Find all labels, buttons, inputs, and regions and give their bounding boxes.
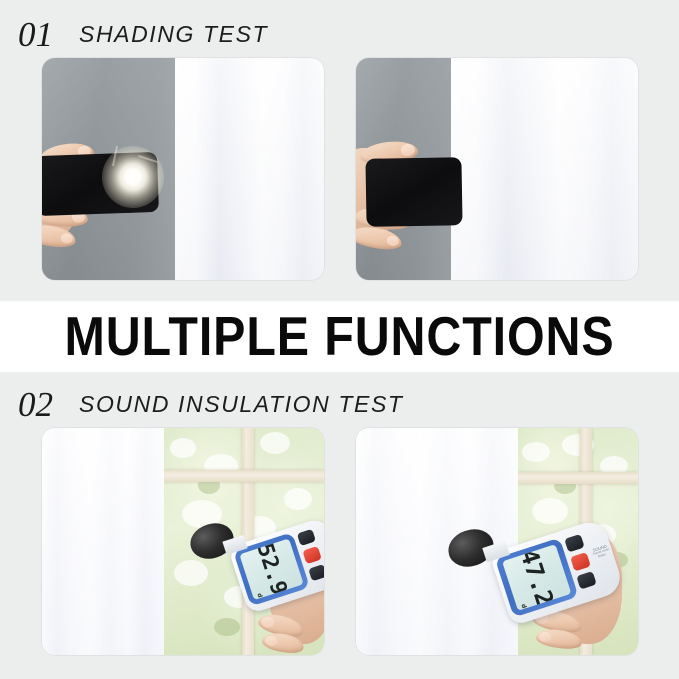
- meter-reading-value: 52.9: [251, 540, 291, 598]
- section-02-title: SOUND INSULATION TEST: [79, 393, 404, 416]
- fingernail: [260, 615, 275, 629]
- meter-brand-logo: SOUND Sound Level Meter: [588, 542, 613, 561]
- smartphone: [365, 157, 462, 227]
- fingernail: [386, 235, 400, 247]
- foliage-shadow: [214, 618, 240, 636]
- section-01-heading: 01 SHADING TEST: [0, 6, 679, 62]
- window-mullion-horizontal: [518, 472, 638, 484]
- fingernail: [60, 233, 73, 245]
- sound-level-meter: 47.2 dB SOUND Sound Level Meter: [446, 512, 616, 622]
- shading-scene-flash-off: [356, 58, 638, 280]
- meter-body: 52.9 dB: [228, 516, 324, 615]
- meter-button-power[interactable]: [302, 546, 322, 564]
- window-mullion-horizontal: [164, 470, 324, 482]
- sound-scene-curtain: 47.2 dB SOUND Sound Level Meter: [356, 428, 638, 655]
- meter-reading-unit: dB: [519, 603, 528, 611]
- foliage-highlight: [170, 438, 196, 458]
- banner: MULTIPLE FUNCTIONS: [0, 301, 679, 372]
- meter-button-power[interactable]: [570, 552, 591, 572]
- meter-reading-unit: dB: [256, 592, 265, 600]
- shading-test-photo-flash-on[interactable]: [42, 58, 324, 280]
- meter-lcd-screen: 52.9 dB: [239, 538, 303, 600]
- section-02-number: 02: [18, 387, 53, 422]
- sound-level-meter: 52.9 dB: [188, 512, 324, 608]
- meter-lcd-screen: 47.2 dB: [502, 544, 571, 611]
- foliage-highlight: [522, 442, 550, 462]
- foliage-highlight: [260, 432, 290, 454]
- section-02-heading: 02 SOUND INSULATION TEST: [0, 376, 679, 432]
- sound-test-photo-curtain[interactable]: 47.2 dB SOUND Sound Level Meter: [356, 428, 638, 655]
- fingernail: [400, 143, 415, 156]
- meter-body: 47.2 dB SOUND Sound Level Meter: [489, 518, 625, 627]
- shading-test-photo-flash-off[interactable]: [356, 58, 638, 280]
- meter-reading-value: 47.2: [514, 546, 558, 610]
- sound-scene-window: 52.9 dB: [42, 428, 324, 655]
- white-curtain-panel: [451, 58, 638, 280]
- meter-button-up[interactable]: [564, 534, 584, 553]
- foliage-highlight: [284, 488, 312, 510]
- fingernail: [264, 635, 278, 647]
- section-01-title: SHADING TEST: [79, 23, 268, 46]
- flashlight-glow: [102, 146, 164, 208]
- meter-button-up[interactable]: [297, 529, 316, 546]
- white-curtain-panel: [42, 428, 164, 655]
- banner-title: MULTIPLE FUNCTIONS: [65, 309, 615, 364]
- shading-scene-flash-on: [42, 58, 324, 280]
- white-curtain-panel: [175, 58, 324, 280]
- section-01-number: 01: [18, 17, 53, 52]
- meter-button-mode[interactable]: [308, 564, 324, 581]
- fingernail: [538, 631, 551, 643]
- meter-button-mode[interactable]: [576, 571, 596, 590]
- sound-test-photo-window[interactable]: 52.9 dB: [42, 428, 324, 655]
